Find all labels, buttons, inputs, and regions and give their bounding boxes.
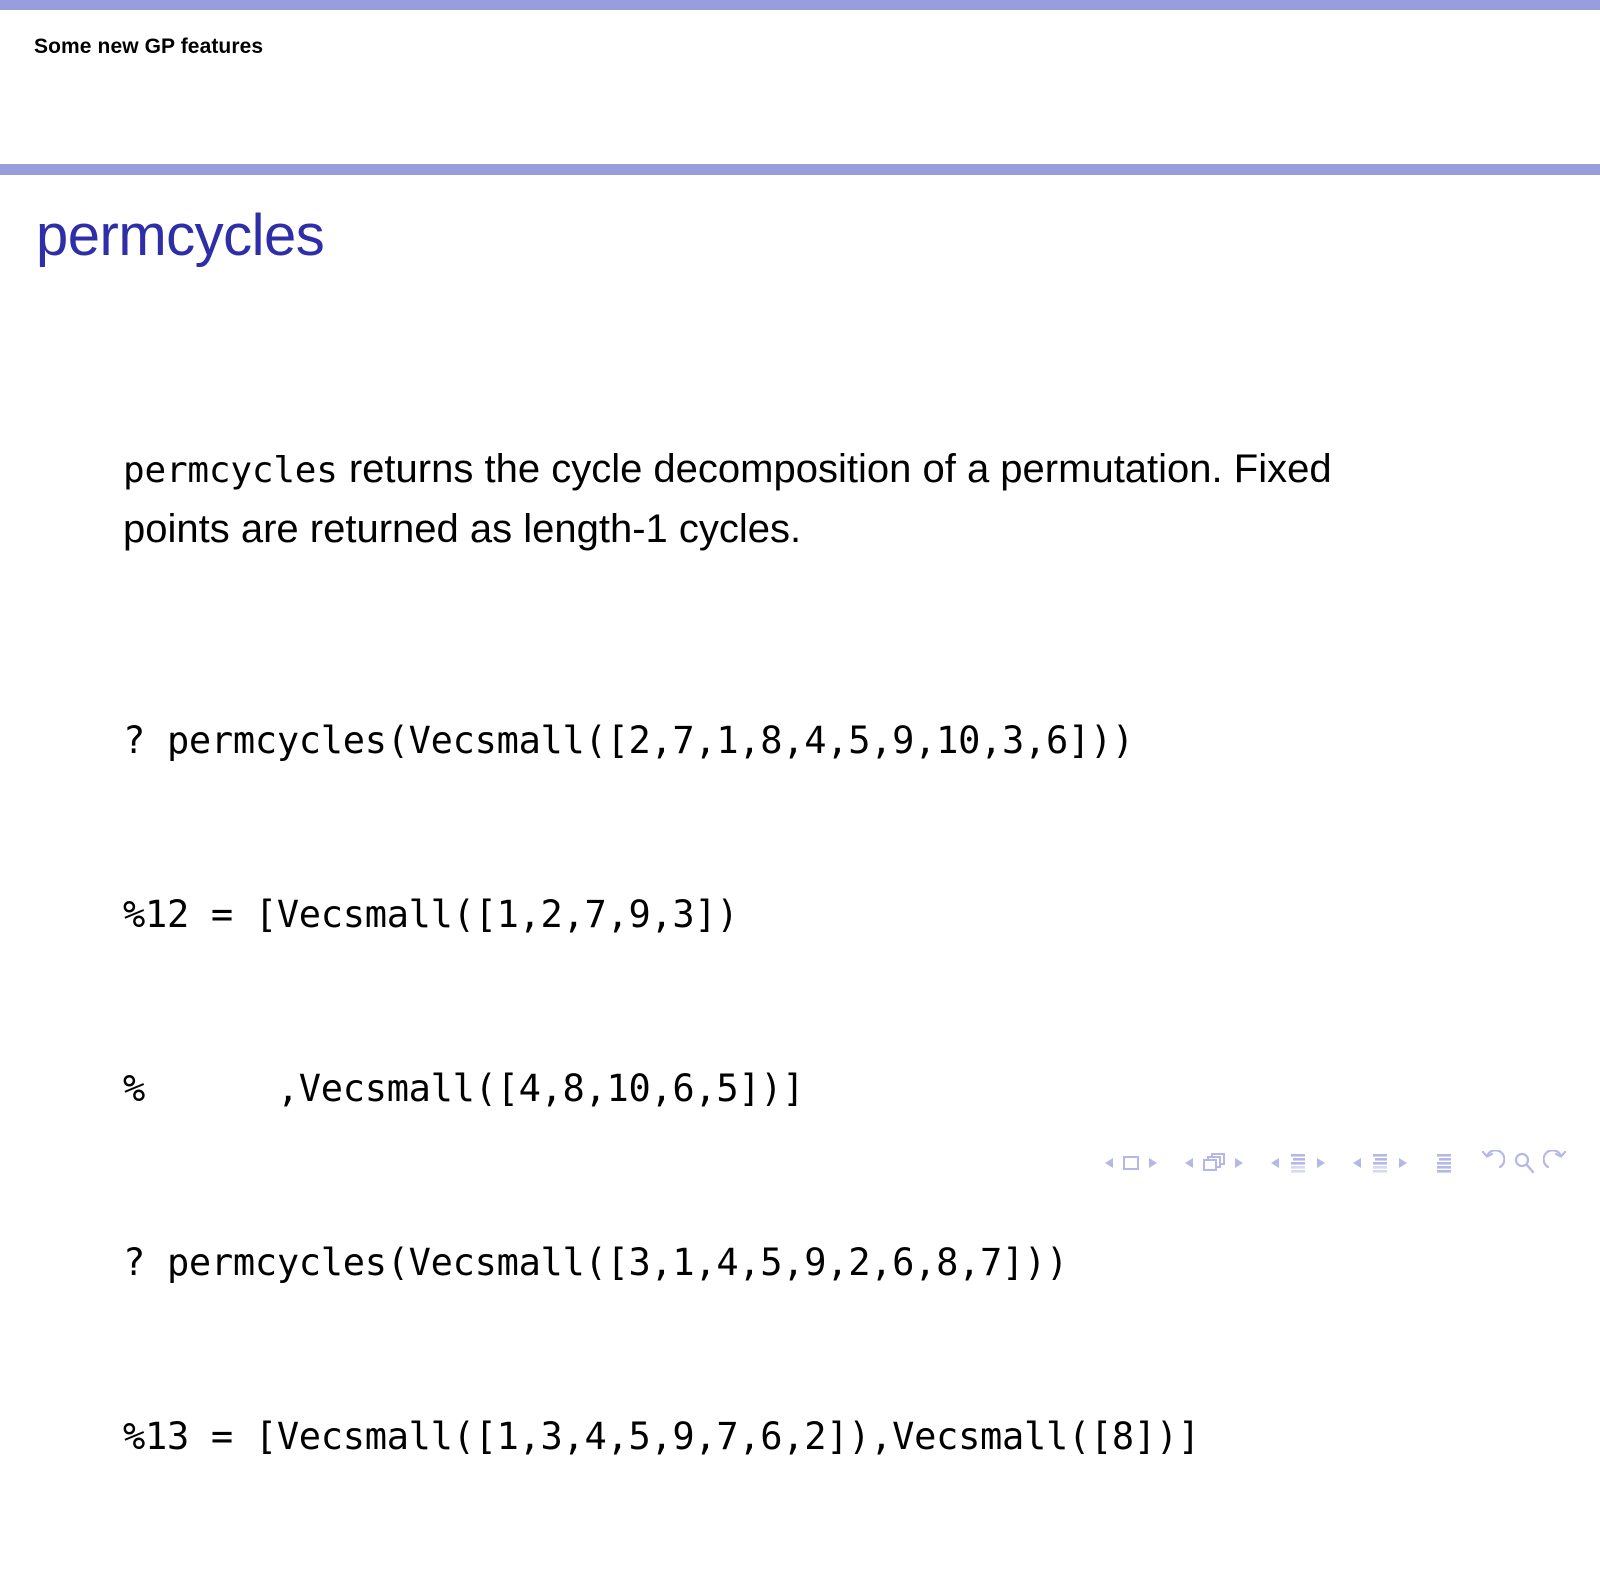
nav-group-subsection[interactable] bbox=[1266, 1152, 1330, 1174]
triangle-left-icon[interactable] bbox=[1269, 1156, 1281, 1170]
nav-group-frame[interactable] bbox=[1180, 1152, 1248, 1174]
subsection-lines-icon[interactable] bbox=[1287, 1152, 1309, 1174]
code-line: %12 = [Vecsmall([1,2,7,9,3]) bbox=[123, 886, 1523, 944]
beamer-navigation-bar[interactable] bbox=[1100, 1146, 1572, 1180]
triangle-left-icon[interactable] bbox=[1183, 1156, 1195, 1170]
section-lines-icon[interactable] bbox=[1369, 1152, 1391, 1174]
nav-group-history[interactable] bbox=[1476, 1150, 1572, 1176]
header-top-rule bbox=[0, 0, 1600, 10]
nav-group-slide[interactable] bbox=[1100, 1153, 1162, 1173]
code-line: %13 = [Vecsmall([1,3,4,5,9,7,6,2]),Vecsm… bbox=[123, 1408, 1523, 1466]
frame-stack-icon[interactable] bbox=[1201, 1152, 1227, 1174]
description-paragraph: permcycles returns the cycle decompositi… bbox=[123, 440, 1383, 558]
go-forward-icon[interactable] bbox=[1543, 1150, 1569, 1176]
triangle-right-icon[interactable] bbox=[1397, 1156, 1409, 1170]
triangle-left-icon[interactable] bbox=[1351, 1156, 1363, 1170]
inline-code-permcycles: permcycles bbox=[123, 450, 338, 491]
presentation-title: Some new GP features bbox=[34, 35, 263, 59]
nav-group-section[interactable] bbox=[1348, 1152, 1412, 1174]
triangle-right-icon[interactable] bbox=[1233, 1156, 1245, 1170]
slide-square-icon[interactable] bbox=[1121, 1153, 1141, 1173]
nav-group-document[interactable] bbox=[1430, 1152, 1458, 1174]
code-line: ? permcycles(Vecsmall([3,1,4,5,9,2,6,8,7… bbox=[123, 1234, 1523, 1292]
header-bottom-rule bbox=[0, 164, 1600, 175]
triangle-left-icon[interactable] bbox=[1103, 1156, 1115, 1170]
code-line: % ,Vecsmall([4,8,10,6,5])] bbox=[123, 1060, 1523, 1118]
document-lines-icon[interactable] bbox=[1433, 1152, 1455, 1174]
go-back-icon[interactable] bbox=[1479, 1150, 1505, 1176]
triangle-right-icon[interactable] bbox=[1315, 1156, 1327, 1170]
frame-title: permcycles bbox=[36, 202, 324, 269]
search-icon[interactable] bbox=[1511, 1150, 1537, 1176]
slide-headline: Some new GP features bbox=[0, 10, 1600, 164]
code-example-block: ? permcycles(Vecsmall([2,7,1,8,4,5,9,10,… bbox=[123, 596, 1523, 1582]
slide-body: permcycles returns the cycle decompositi… bbox=[123, 440, 1523, 1582]
code-line: ? permcycles(Vecsmall([2,7,1,8,4,5,9,10,… bbox=[123, 712, 1523, 770]
triangle-right-icon[interactable] bbox=[1147, 1156, 1159, 1170]
